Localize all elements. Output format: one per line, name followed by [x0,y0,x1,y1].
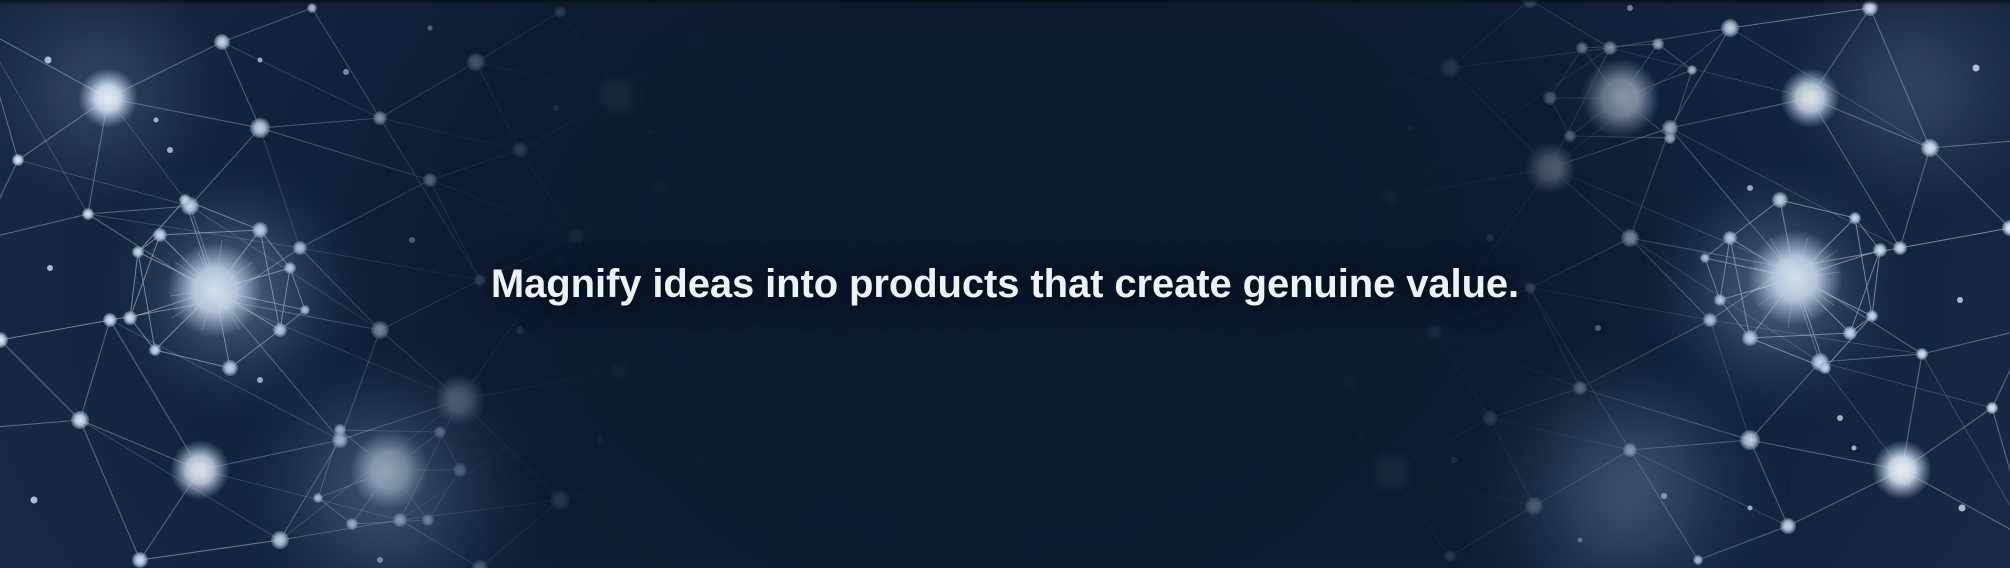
hero-headline: Magnify ideas into products that create … [451,260,1559,308]
headline-container: Magnify ideas into products that create … [0,0,2010,568]
hero-banner: Magnify ideas into products that create … [0,0,2010,568]
